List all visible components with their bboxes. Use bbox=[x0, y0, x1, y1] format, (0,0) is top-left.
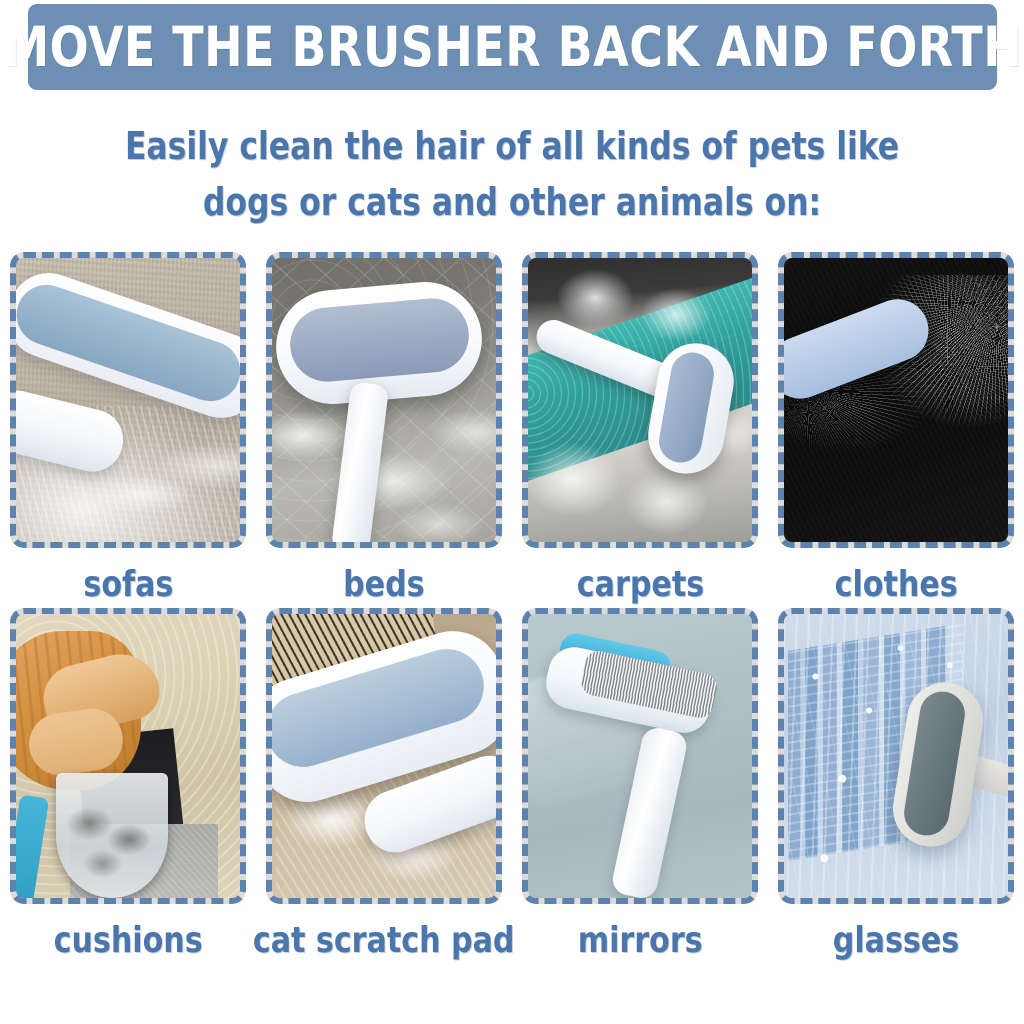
caption-cat-scratch-pad: cat scratch pad bbox=[253, 918, 515, 964]
caption-cushions: cushions bbox=[53, 918, 202, 964]
caption-glasses: glasses bbox=[833, 918, 959, 964]
grid-cell-cat-scratch-pad: cat scratch pad bbox=[256, 608, 512, 964]
photo-tile-cushions bbox=[10, 608, 246, 904]
photo-cat-on-cushion bbox=[16, 614, 240, 898]
header-banner: MOVE THE BRUSHER BACK AND FORTH bbox=[28, 4, 997, 90]
photo-tile-beds bbox=[266, 252, 502, 548]
photo-brush-on-beige-carpet bbox=[16, 258, 240, 542]
photo-brush-on-cardboard-scratch-pad bbox=[272, 614, 496, 898]
photo-brush-on-mirror bbox=[528, 614, 752, 898]
grid-cell-clothes: clothes bbox=[768, 252, 1024, 608]
subtitle-block: Easily clean the hair of all kinds of pe… bbox=[41, 118, 983, 230]
grid-cell-mirrors: mirrors bbox=[512, 608, 768, 964]
grid-cell-beds: beds bbox=[256, 252, 512, 608]
grid-row-1: sofas beds carpets bbox=[0, 252, 1024, 608]
caption-beds: beds bbox=[343, 562, 425, 608]
photo-tile-clothes bbox=[778, 252, 1014, 548]
photo-brush-on-grey-quilt bbox=[272, 258, 496, 542]
subtitle-line-1: Easily clean the hair of all kinds of pe… bbox=[41, 118, 983, 174]
grid-row-2: cushions cat scratch pad mirrors bbox=[0, 608, 1024, 964]
grid-cell-sofas: sofas bbox=[0, 252, 256, 608]
caption-carpets: carpets bbox=[576, 562, 703, 608]
photo-tile-carpets bbox=[522, 252, 758, 548]
caption-sofas: sofas bbox=[83, 562, 173, 608]
grid-cell-cushions: cushions bbox=[0, 608, 256, 964]
grid-cell-glasses: glasses bbox=[768, 608, 1024, 964]
photo-squeegee-on-window bbox=[784, 614, 1008, 898]
page-title: MOVE THE BRUSHER BACK AND FORTH bbox=[3, 20, 1022, 75]
subtitle-line-2: dogs or cats and other animals on: bbox=[41, 174, 983, 230]
photo-tile-mirrors bbox=[522, 608, 758, 904]
photo-brush-on-teal-rug bbox=[528, 258, 752, 542]
caption-clothes: clothes bbox=[834, 562, 957, 608]
photo-brush-on-black-fabric bbox=[784, 258, 1008, 542]
infographic-page: MOVE THE BRUSHER BACK AND FORTH Easily c… bbox=[0, 0, 1024, 1024]
grid-cell-carpets: carpets bbox=[512, 252, 768, 608]
caption-mirrors: mirrors bbox=[578, 918, 703, 964]
surfaces-grid: sofas beds carpets bbox=[0, 252, 1024, 964]
photo-tile-sofas bbox=[10, 252, 246, 548]
photo-tile-glasses bbox=[778, 608, 1014, 904]
photo-tile-cat-scratch-pad bbox=[266, 608, 502, 904]
